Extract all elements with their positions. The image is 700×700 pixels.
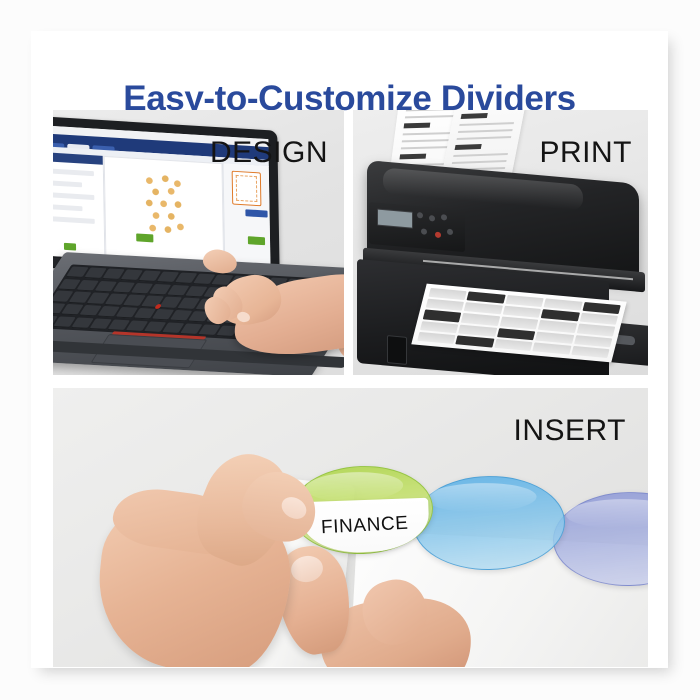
panel-print[interactable]: PRINT <box>353 110 648 375</box>
printed-sheet-grid <box>417 288 620 358</box>
screen-tertiary-button <box>64 243 76 251</box>
panel-label-insert: INSERT <box>514 414 626 448</box>
screen-primary-button <box>248 236 265 245</box>
screen-form-field <box>53 168 94 176</box>
product-card: Easy-to-Customize Dividers <box>31 31 668 668</box>
panel-insert[interactable]: FINANCE INSERT <box>53 388 648 667</box>
printer-power-indicator <box>435 232 441 239</box>
screen-form-field <box>53 216 95 224</box>
hand-holding-divider <box>93 440 393 667</box>
panel-label-design: DESIGN <box>210 136 328 170</box>
panel-label-print: PRINT <box>540 136 633 170</box>
screen-form-field <box>53 192 94 200</box>
hand-on-trackpad <box>203 250 344 375</box>
screen-form-field <box>53 204 83 211</box>
screen-template-thumbnail <box>232 171 262 207</box>
screen-secondary-button <box>136 233 153 242</box>
panel-design[interactable]: DESIGN <box>53 110 344 375</box>
printer-buttons <box>417 212 459 246</box>
screen-preview-button <box>245 209 267 217</box>
printer-card-slot <box>387 335 407 365</box>
printer-display <box>377 209 413 229</box>
screen-form-panel <box>53 152 105 259</box>
printer-control-panel <box>369 202 465 252</box>
screen-form-field <box>53 180 82 187</box>
screen-template-artwork <box>140 172 187 242</box>
screenshot-stage: Easy-to-Customize Dividers <box>0 0 700 700</box>
